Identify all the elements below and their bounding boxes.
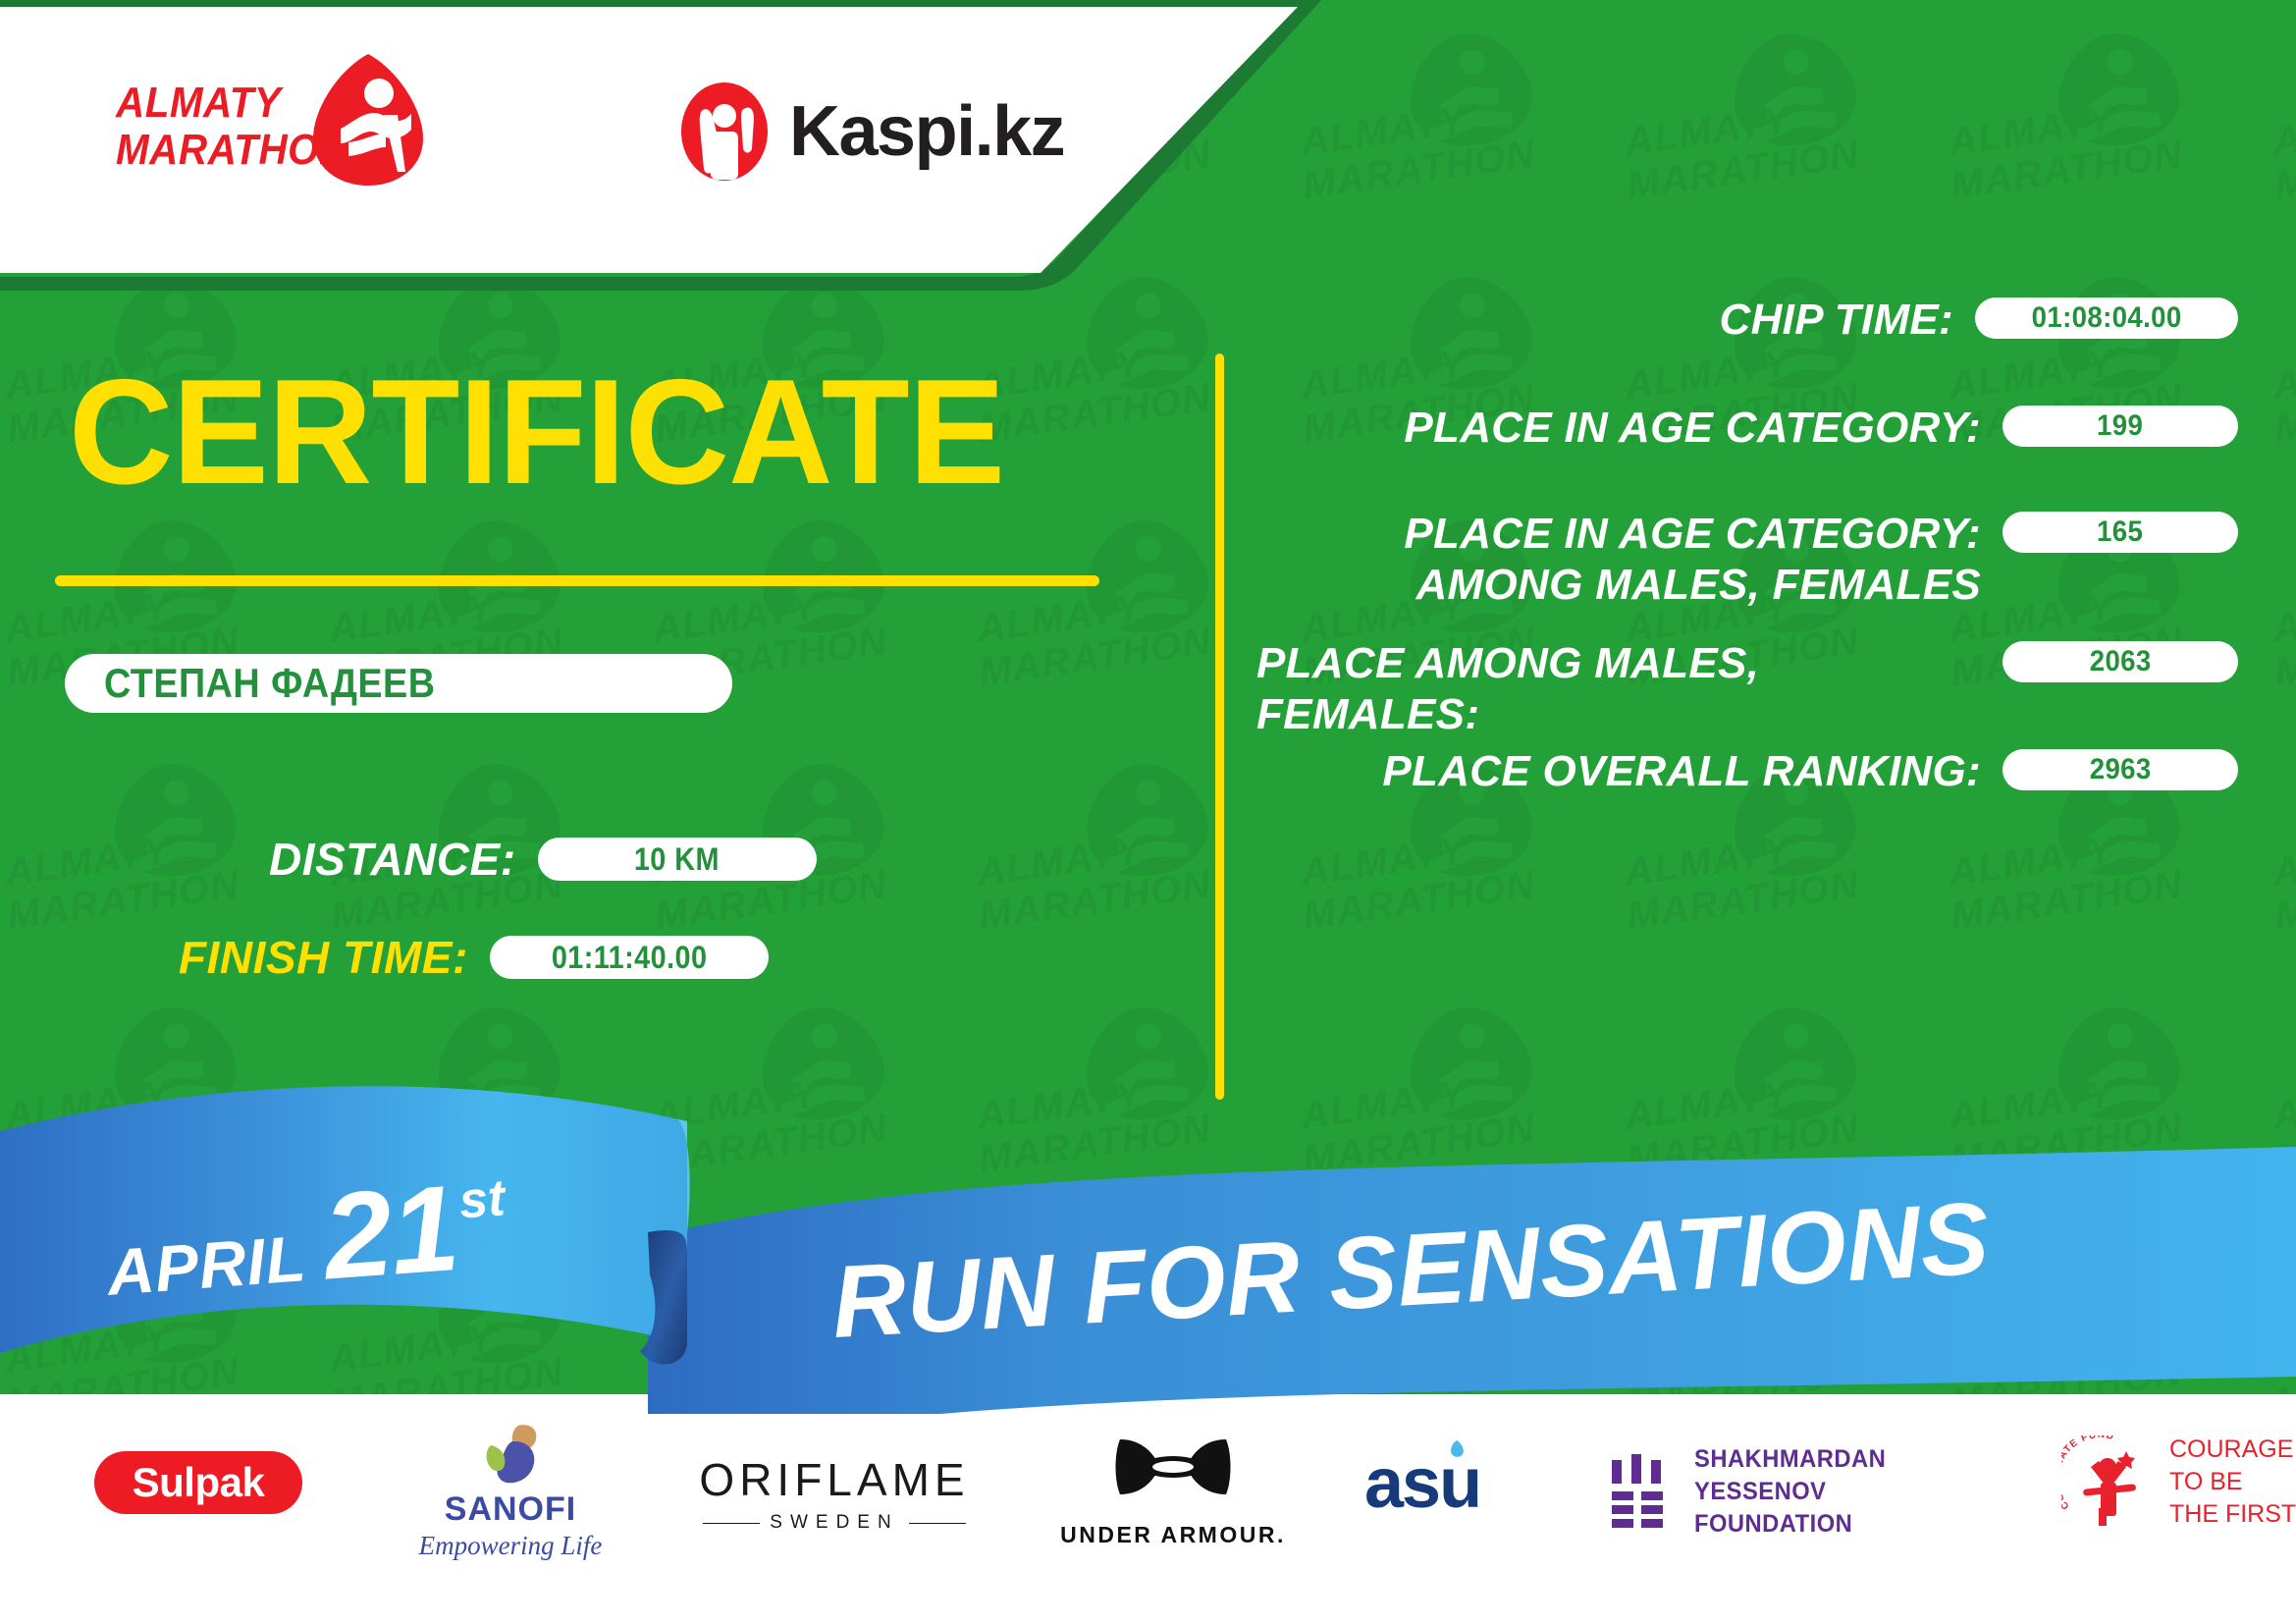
yessenov-bars-icon [1610,1454,1673,1531]
distance-label: DISTANCE: [269,833,516,886]
finish-time-value-pill: 01:11:40.00 [490,936,769,979]
participant-name-field: СТЕПАН ФАДЕЕВ [65,654,732,713]
yessenov-label: SHAKHMARDAN YESSENOV FOUNDATION [1694,1443,1987,1541]
finish-time-row: FINISH TIME: 01:11:40.00 [179,931,769,984]
chip-time-label: CHIP TIME: [1256,295,1975,346]
chip-time-value: 01:08:04.00 [2032,301,2182,335]
sponsor-asu: asu [1364,1443,1551,1524]
sanofi-label: SANOFI [445,1490,576,1529]
sponsor-courage-fund: CORPORATE FUND COURAGE TO BE THE FIRST! [2061,1434,2296,1531]
chip-time-value-pill: 01:08:04.00 [1975,298,2238,339]
vertical-divider [1215,353,1224,1100]
place-age-category-gender-label: PLACE IN AGE CATEGORY: AMONG MALES, FEMA… [1256,509,2002,611]
sponsor-bar: Sulpak SANOFI Empowering Life ORIFLAME S… [0,1414,2296,1624]
place-age-category-gender-value: 165 [2097,515,2143,549]
stat-row: PLACE AMONG MALES, FEMALES: 2063 [1256,638,2238,740]
stat-row: PLACE IN AGE CATEGORY: 199 [1256,403,2238,454]
place-age-category-label: PLACE IN AGE CATEGORY: [1256,403,2002,454]
title-underline-rule [55,575,1099,586]
courage-runner-icon: CORPORATE FUND [2061,1435,2156,1530]
courage-label: COURAGE TO BE THE FIRST! [2169,1434,2296,1531]
sanofi-mark-icon [473,1424,548,1487]
certificate-title: CERTIFICATE [69,357,1004,507]
oriflame-rule-right [909,1523,966,1524]
oriflame-sub-label: SWEDEN [770,1512,898,1534]
oriflame-label: ORIFLAME [699,1453,969,1506]
place-among-gender-value-pill: 2063 [2002,641,2238,682]
certificate-canvas: ALMATY MARATHON ALMATY MARATHON [0,0,2296,1624]
left-column: CERTIFICATE СТЕПАН ФАДЕЕВ DISTANCE: 10 K… [0,295,1178,1100]
place-among-gender-value: 2063 [2090,645,2152,678]
ribbon-month: APRIL [105,1220,309,1310]
sponsor-yessenov-foundation: SHAKHMARDAN YESSENOV FOUNDATION [1610,1443,2002,1541]
kaspi-person-icon [677,81,772,183]
place-overall-label: PLACE OVERALL RANKING: [1256,746,2002,797]
place-age-category-gender-value-pill: 165 [2002,512,2238,553]
place-overall-value-pill: 2963 [2002,749,2238,790]
ribbon-date: APRIL 21 st [101,1155,511,1324]
ribbon-ordinal: st [457,1168,507,1230]
place-age-category-value-pill: 199 [2002,406,2238,447]
stat-row: PLACE IN AGE CATEGORY: AMONG MALES, FEMA… [1256,509,2238,611]
ribbon-day: 21 [319,1159,462,1308]
distance-value: 10 KM [634,841,720,878]
stat-row: PLACE OVERALL RANKING: 2963 [1256,746,2238,797]
place-age-category-value: 199 [2097,409,2143,443]
asu-droplet-icon [1445,1439,1467,1459]
oriflame-sub-wrap: SWEDEN [703,1512,965,1534]
oriflame-rule-left [703,1523,760,1524]
runner-drop-icon [307,52,429,189]
sponsor-sanofi: SANOFI Empowering Life [393,1424,628,1561]
stat-row: CHIP TIME: 01:08:04.00 [1256,295,2238,346]
stats-column: CHIP TIME: 01:08:04.00 PLACE IN AGE CATE… [1256,295,2296,1100]
sponsor-oriflame: ORIFLAME SWEDEN [687,1453,982,1534]
place-overall-value: 2963 [2090,753,2152,786]
distance-row: DISTANCE: 10 KM [269,833,817,886]
under-armour-icon [1110,1437,1236,1512]
place-among-gender-label: PLACE AMONG MALES, FEMALES: [1256,638,2002,740]
sponsor-sulpak: Sulpak [94,1451,302,1514]
under-armour-label: UNDER ARMOUR. [1060,1522,1286,1548]
distance-value-pill: 10 KM [538,838,817,881]
kaspi-logo: Kaspi.kz [677,78,1090,186]
kaspi-label: Kaspi.kz [789,91,1064,172]
almaty-marathon-logo: ALMATY MARATHON [116,58,430,195]
finish-time-value: 01:11:40.00 [551,940,707,976]
participant-name-value: СТЕПАН ФАДЕЕВ [104,660,435,707]
sanofi-tagline: Empowering Life [419,1531,603,1561]
finish-time-label: FINISH TIME: [179,931,468,984]
sponsor-under-armour: UNDER ARMOUR. [1060,1437,1286,1548]
sulpak-label: Sulpak [133,1459,265,1506]
